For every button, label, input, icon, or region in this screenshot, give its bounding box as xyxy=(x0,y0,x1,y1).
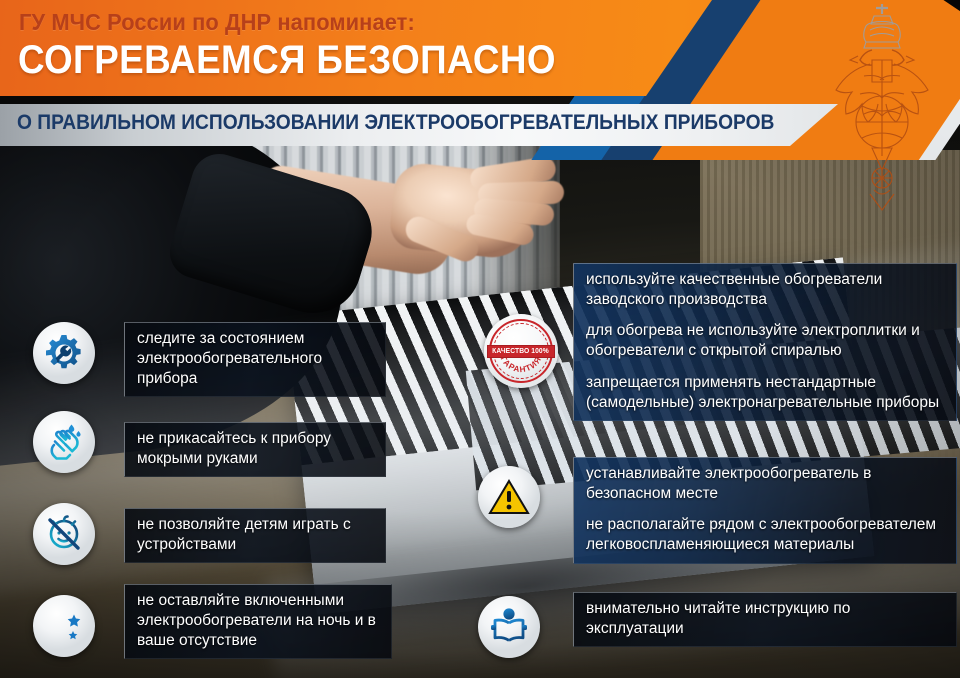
quality-guarantee-stamp: ГАРАНТИЯ ГАРАНТИЯ КАЧЕСТВО 100% xyxy=(484,314,558,388)
text-block-right-group-1: используйте качественные обогреватели за… xyxy=(573,263,957,421)
text-block: не прикасайтесь к прибору мокрыми руками xyxy=(124,422,386,477)
gear-wrench-icon xyxy=(33,322,95,384)
item-text: используйте качественные обогреватели за… xyxy=(586,270,946,310)
infographic-poster: ГУ МЧС России по ДНР напоминает: СОГРЕВА… xyxy=(0,0,960,678)
text-block: не позволяйте детям играть с устройствам… xyxy=(124,508,386,563)
page-title: СОГРЕВАЕМСЯ БЕЗОПАСНО xyxy=(18,40,662,80)
item-text: внимательно читайте инструкцию по эксплу… xyxy=(586,599,946,639)
item-text: не располагайте рядом с электрообогреват… xyxy=(586,515,946,555)
item-text: не прикасайтесь к прибору мокрыми руками xyxy=(137,429,375,469)
text-block: следите за состоянием электрообогревател… xyxy=(124,322,386,397)
item-text: для обогрева не используйте электроплитк… xyxy=(586,321,946,361)
wet-hands-icon xyxy=(33,411,95,473)
item-text: следите за состоянием электрообогревател… xyxy=(137,329,375,389)
subtitle-text: О ПРАВИЛЬНОМ ИСПОЛЬЗОВАНИИ ЭЛЕКТРООБОГРЕ… xyxy=(17,111,758,135)
header-reminder-line: ГУ МЧС России по ДНР напоминает: xyxy=(19,9,608,36)
warning-triangle-icon xyxy=(478,466,540,528)
text-block-right-group-2: устанавливайте электрообогреватель в без… xyxy=(573,457,957,564)
text-block: не оставляйте включенными электрообогрев… xyxy=(124,584,392,659)
item-text: не позволяйте детям играть с устройствам… xyxy=(137,515,375,555)
reading-book-icon xyxy=(478,596,540,658)
item-text: не оставляйте включенными электрообогрев… xyxy=(137,591,381,651)
moon-stars-icon xyxy=(33,595,95,657)
text-block-right-group-3: внимательно читайте инструкцию по эксплу… xyxy=(573,592,957,647)
stamp-band-text: КАЧЕСТВО 100% xyxy=(493,348,550,355)
mchs-double-headed-eagle-emblem xyxy=(824,2,940,214)
item-text: устанавливайте электрообогреватель в без… xyxy=(586,464,946,504)
no-children-icon xyxy=(33,503,95,565)
stamp-quality-band: КАЧЕСТВО 100% xyxy=(487,345,555,358)
item-text: запрещается применять нестандартные (сам… xyxy=(586,373,946,413)
